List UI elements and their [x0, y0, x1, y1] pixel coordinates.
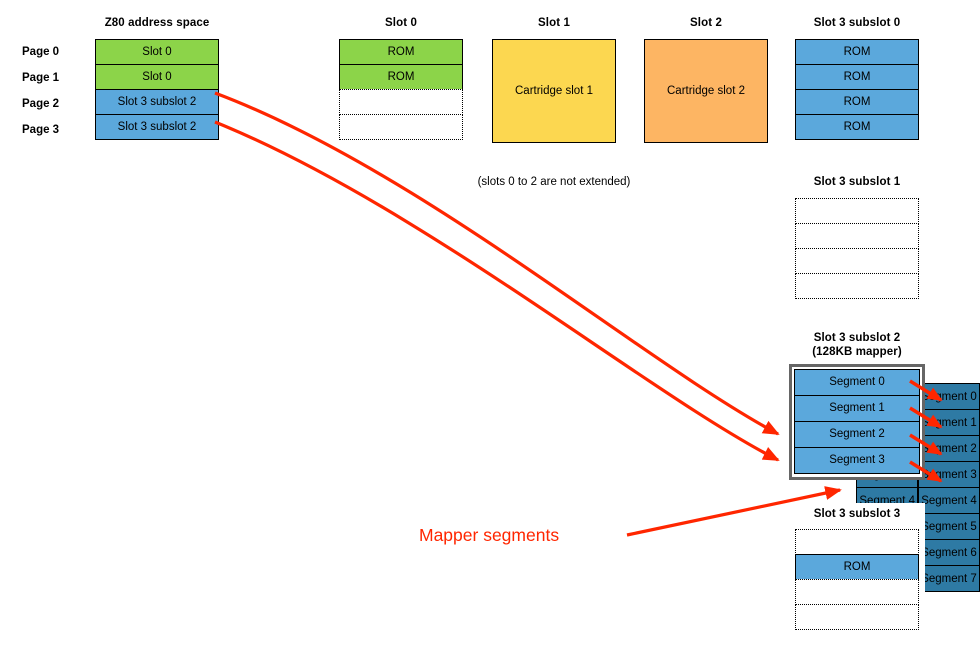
- mapper-pool-cell-4-label: Segment 4: [921, 495, 977, 507]
- z80-cell-page1[interactable]: Slot 0: [95, 64, 219, 90]
- slot3-subslot3-cell-1-label: ROM: [844, 561, 871, 574]
- mapper-pool-cell-3-label: Segment 3: [921, 469, 977, 481]
- slot3-subslot2-title-line1: Slot 3 subslot 2: [795, 331, 919, 345]
- slot3-subslot2-stack: Segment 0 Segment 1 Segment 2 Segment 3: [794, 369, 920, 474]
- slot3-subslot2-cell-2[interactable]: Segment 2: [794, 421, 920, 448]
- mapper-pool-cell-7[interactable]: Segment 7: [918, 565, 980, 592]
- slot3-subslot2-cell-0-label: Segment 0: [829, 376, 885, 389]
- slot0-cell-0-label: ROM: [388, 46, 415, 59]
- slot0-stack: ROM ROM: [339, 39, 463, 140]
- slot3-subslot3-title: Slot 3 subslot 3: [795, 507, 919, 521]
- slot3-subslot3-cell-0[interactable]: [795, 529, 919, 555]
- mapper-pool-cell-0-label: Segment 0: [921, 391, 977, 403]
- z80-address-space-title: Z80 address space: [95, 16, 219, 30]
- slot0-cell-1[interactable]: ROM: [339, 64, 463, 90]
- slot3-subslot0-title: Slot 3 subslot 0: [795, 16, 919, 30]
- slot1-cartridge-block[interactable]: Cartridge slot 1: [492, 39, 616, 143]
- arrow-page3-to-segment3: [215, 122, 778, 460]
- slot3-subslot1-cell-0[interactable]: [795, 198, 919, 224]
- mapper-pool-cell-2-label: Segment 2: [921, 443, 977, 455]
- mapper-pool-cell-6-label: Segment 6: [921, 547, 977, 559]
- page-label-1: Page 1: [22, 71, 59, 85]
- slot3-subslot0-cell-2-label: ROM: [844, 96, 871, 109]
- mapper-pool-cell-1[interactable]: Segment 1: [918, 409, 980, 436]
- mapper-segments-caption: Mapper segments: [419, 525, 559, 546]
- diagram-canvas: Z80 address space Page 0 Page 1 Page 2 P…: [0, 0, 980, 656]
- slot3-subslot3-cell-3[interactable]: [795, 604, 919, 630]
- page-label-2: Page 2: [22, 97, 59, 111]
- z80-cell-page2[interactable]: Slot 3 subslot 2: [95, 89, 219, 115]
- z80-address-space-stack: Slot 0 Slot 0 Slot 3 subslot 2 Slot 3 su…: [95, 39, 219, 140]
- mapper-pool-cell-1-label: Segment 1: [921, 417, 977, 429]
- slot3-subslot3-cell-2[interactable]: [795, 579, 919, 605]
- mapper-pool-cell-2[interactable]: Segment 2: [918, 435, 980, 462]
- slot0-title: Slot 0: [339, 16, 463, 30]
- slot3-subslot3-cell-1[interactable]: ROM: [795, 554, 919, 580]
- z80-cell-page1-label: Slot 0: [142, 71, 171, 84]
- slot1-cartridge-label: Cartridge slot 1: [515, 85, 593, 97]
- slot3-subslot2-cell-0[interactable]: Segment 0: [794, 369, 920, 396]
- slot2-cartridge-block[interactable]: Cartridge slot 2: [644, 39, 768, 143]
- slot0-cell-2[interactable]: [339, 89, 463, 115]
- slot3-subslot2-cell-3-label: Segment 3: [829, 454, 885, 467]
- z80-cell-page0[interactable]: Slot 0: [95, 39, 219, 65]
- slot3-subslot0-cell-0-label: ROM: [844, 46, 871, 59]
- mapper-pool-cell-5-label: Segment 5: [921, 521, 977, 533]
- slot2-title: Slot 2: [644, 16, 768, 30]
- slot3-subslot1-title: Slot 3 subslot 1: [795, 175, 919, 189]
- slot3-subslot3-stack: ROM: [795, 529, 919, 630]
- slot3-subslot0-cell-1-label: ROM: [844, 71, 871, 84]
- mapper-pool-column: Segment 0 Segment 1 Segment 2 Segment 3 …: [918, 383, 980, 592]
- slot3-subslot0-cell-3[interactable]: ROM: [795, 114, 919, 140]
- slot3-subslot1-cell-3[interactable]: [795, 273, 919, 299]
- arrow-page2-to-segment2: [215, 93, 778, 434]
- mapper-pool-cell-7-label: Segment 7: [921, 573, 977, 585]
- slot2-cartridge-label: Cartridge slot 2: [667, 85, 745, 97]
- slot3-subslot0-cell-0[interactable]: ROM: [795, 39, 919, 65]
- mapper-pool-cell-5[interactable]: Segment 5: [918, 513, 980, 540]
- mapper-pool-cell-6[interactable]: Segment 6: [918, 539, 980, 566]
- z80-cell-page3-label: Slot 3 subslot 2: [118, 121, 197, 134]
- z80-cell-page3[interactable]: Slot 3 subslot 2: [95, 114, 219, 140]
- slot3-subslot0-cell-1[interactable]: ROM: [795, 64, 919, 90]
- slot3-subslot1-cell-2[interactable]: [795, 248, 919, 274]
- slot3-subslot1-stack: [795, 198, 919, 299]
- slot3-subslot2-cell-1[interactable]: Segment 1: [794, 395, 920, 422]
- slot0-cell-0[interactable]: ROM: [339, 39, 463, 65]
- slot3-subslot2-cell-1-label: Segment 1: [829, 402, 885, 415]
- slot3-subslot2-cell-2-label: Segment 2: [829, 428, 885, 441]
- slot1-title: Slot 1: [492, 16, 616, 30]
- z80-cell-page0-label: Slot 0: [142, 46, 171, 59]
- slot3-subslot1-cell-1[interactable]: [795, 223, 919, 249]
- note-slots-not-extended: (slots 0 to 2 are not extended): [432, 176, 676, 188]
- page-label-0: Page 0: [22, 45, 59, 59]
- mapper-pool-cell-3[interactable]: Segment 3: [918, 461, 980, 488]
- slot0-cell-3[interactable]: [339, 114, 463, 140]
- slot3-subslot2-title-line2: (128KB mapper): [795, 345, 919, 359]
- slot3-subslot0-cell-3-label: ROM: [844, 121, 871, 134]
- mapper-pool-cell-4[interactable]: Segment 4: [918, 487, 980, 514]
- page-label-3: Page 3: [22, 123, 59, 137]
- slot0-cell-1-label: ROM: [388, 71, 415, 84]
- z80-cell-page2-label: Slot 3 subslot 2: [118, 96, 197, 109]
- slot3-subslot2-cell-3[interactable]: Segment 3: [794, 447, 920, 474]
- slot3-subslot0-cell-2[interactable]: ROM: [795, 89, 919, 115]
- slot3-subslot0-stack: ROM ROM ROM ROM: [795, 39, 919, 140]
- mapper-pool-cell-0[interactable]: Segment 0: [918, 383, 980, 410]
